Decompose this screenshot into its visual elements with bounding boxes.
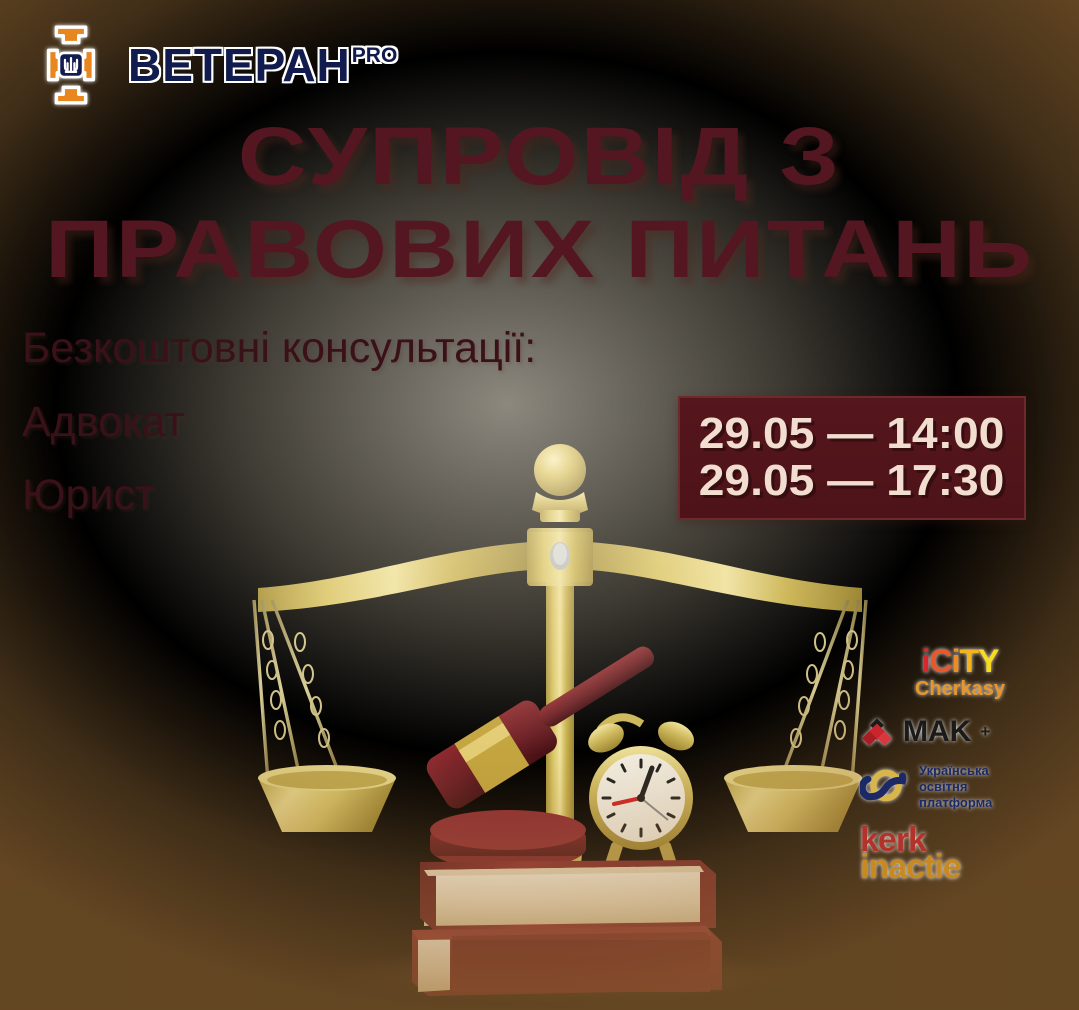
sponsor-mak-plus[interactable]: MAK + [860,715,1060,749]
page-title: СУПРОВІД З ПРАВОВИХ ПИТАНЬ [0,118,1079,289]
mak-wordmark: MAK [903,717,971,747]
kerk-line-2: inactie [860,852,961,883]
sponsor-logos: i C i T Y Cherkasy MAK + [860,645,1060,897]
ukrainian-trident-cross-icon [28,22,114,108]
schedule-entry-1: 29.05 — 14:00 [699,411,1005,458]
sponsor-icity-cherkasy[interactable]: i C i T Y Cherkasy [860,645,1060,701]
interlocking-loops-icon [860,767,912,807]
brand-suffix-text: PRO [352,45,398,66]
schedule-badge: 29.05 — 14:00 29.05 — 17:30 [678,396,1026,520]
uop-line-3: платформа [919,795,992,811]
brand-logo[interactable]: ВЕТЕРАН PRO [28,22,397,108]
icity-letter-2: C [930,645,952,677]
icity-subtitle: Cherkasy [915,678,1005,701]
subtitle-item-lawyer: Юрист [22,469,536,521]
poster-canvas: ВЕТЕРАН PRO СУПРОВІД З ПРАВОВИХ ПИТАНЬ Б… [0,0,1079,1010]
subtitle-heading: Безкоштовні консультації: [22,322,536,374]
uop-line-1: Українська [919,763,992,779]
brand-word-text: ВЕТЕРАН [128,42,351,88]
icity-letter-4: T [960,645,979,677]
icity-letter-3: i [952,645,960,677]
icity-wordmark: i C i T Y [922,645,999,677]
uop-line-2: освітня [919,779,992,795]
icity-letter-1: i [922,645,930,677]
sponsor-kerk-in-actie[interactable]: kerk inactie [860,825,1060,884]
page-title-line-1: СУПРОВІД З [0,118,1079,197]
sponsor-ukrainian-education-platform[interactable]: Українська освітня платформа [860,763,1060,811]
uop-wordmark: Українська освітня платформа [919,763,992,811]
schedule-entry-2: 29.05 — 17:30 [699,458,1005,505]
subtitle-item-advocate: Адвокат [22,396,536,448]
page-title-line-2: ПРАВОВИХ ПИТАНЬ [0,211,1079,290]
mak-plus-symbol: + [980,722,990,742]
icity-letter-5: Y [978,645,998,677]
subtitle-block: Безкоштовні консультації: Адвокат Юрист [22,322,536,521]
brand-wordmark: ВЕТЕРАН PRO [128,42,397,88]
red-diamond-icon [860,715,894,749]
